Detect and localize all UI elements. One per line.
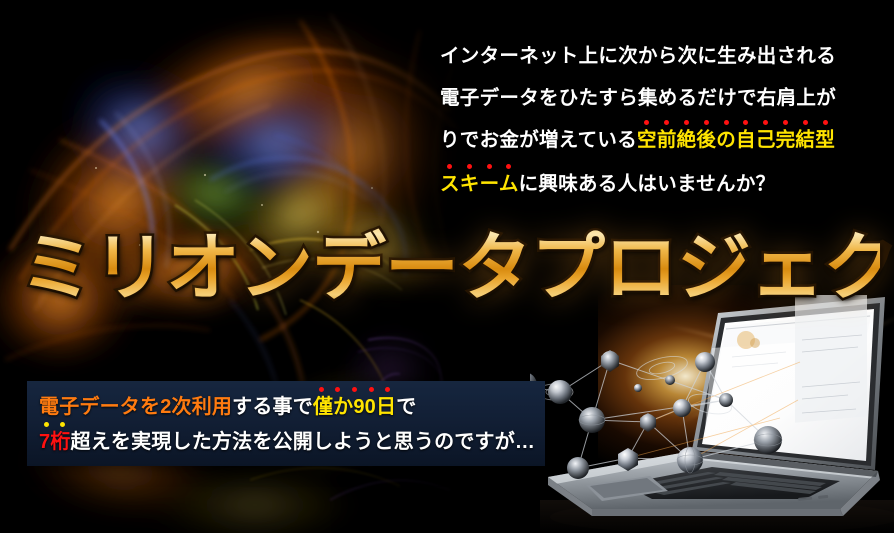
banner-line-1-orange: 電子データを2次利用	[39, 396, 232, 418]
banner-emphasis-2-text: 7桁	[39, 431, 71, 453]
subheadline-banner: 電子データを2次利用する事で僅か90日で 7桁超えを実現した方法を公開しようと思…	[27, 381, 545, 466]
network-svg	[530, 300, 860, 510]
emphasis-dots-1	[637, 119, 835, 126]
headline-line-3-prefix: りでお金が増えている	[440, 129, 637, 151]
headline-emphasis-2-text: スキーム	[440, 173, 519, 195]
headline-line-4: スキームに興味ある人はいませんか？	[440, 164, 882, 204]
banner-line-2-white: 超えを実現した方法を公開しようと思うのですが…	[71, 431, 536, 453]
banner-emphasis-1-text: 僅か90日	[313, 396, 396, 418]
headline-emphasis-2: スキーム	[440, 173, 519, 195]
banner-line-1: 電子データを2次利用する事で僅か90日で	[39, 390, 545, 425]
banner-emphasis-dots-1	[313, 386, 396, 393]
headline-emphasis-1: 空前絶後の自己完結型	[637, 129, 835, 151]
headline-block: インターネット上に次から次に生み出される 電子データをひたすら集めるだけで右肩上…	[440, 36, 882, 204]
headline-line-1-text: インターネット上に次から次に生み出される	[440, 45, 836, 67]
headline-line-3: りでお金が増えている空前絶後の自己完結型	[440, 120, 882, 160]
headline-line-4-suffix: に興味ある人はいませんか？	[519, 173, 776, 195]
emphasis-dots-2	[440, 163, 519, 170]
headline-line-2: 電子データをひたすら集めるだけで右肩上が	[440, 78, 882, 118]
headline-line-1: インターネット上に次から次に生み出される	[440, 36, 882, 76]
banner-line-1-white-b: で	[396, 396, 416, 418]
banner-emphasis-2: 7桁	[39, 431, 71, 453]
network-node-graphic	[530, 300, 850, 500]
headline-line-2-text: 電子データをひたすら集めるだけで右肩上が	[440, 87, 836, 109]
page-title: ミリオンデータプロジェクト	[20, 226, 880, 310]
banner-line-1-white-a: する事で	[232, 396, 313, 418]
banner-emphasis-1: 僅か90日	[313, 396, 396, 418]
banner-line-2: 7桁超えを実現した方法を公開しようと思うのですが…	[39, 425, 545, 460]
headline-emphasis-1-text: 空前絶後の自己完結型	[637, 129, 835, 151]
promo-banner-stage: インターネット上に次から次に生み出される 電子データをひたすら集めるだけで右肩上…	[0, 0, 894, 533]
